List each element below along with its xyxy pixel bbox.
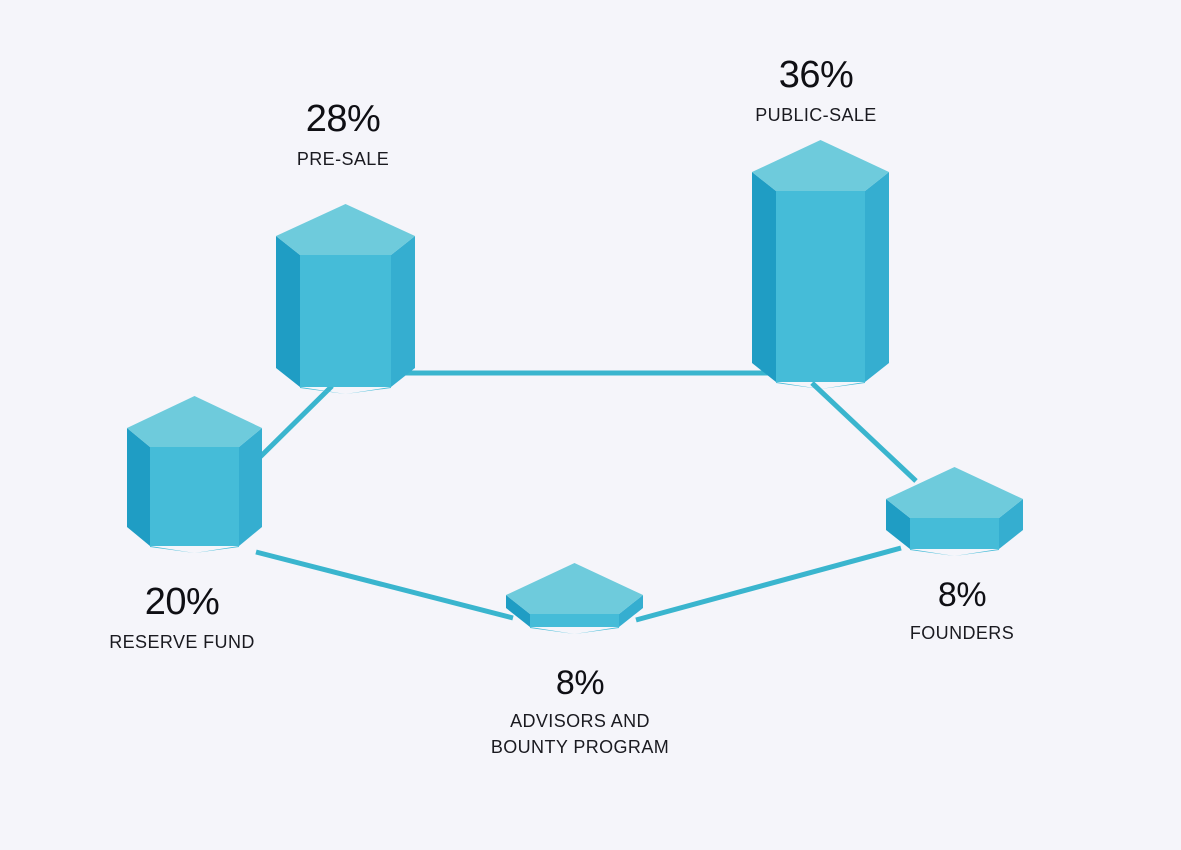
prism-public-sale-left-facet (752, 172, 776, 382)
prism-public-sale-front-facet (776, 191, 865, 382)
connector-reserve-to-presale (252, 386, 332, 465)
label-reserve-fund: 20% RESERVE FUND (82, 583, 282, 656)
category-advisors: ADVISORS AND BOUNTY PROGRAM (480, 709, 680, 760)
prism-pre-sale-left-facet (276, 236, 300, 387)
prism-founders[interactable] (886, 467, 1023, 556)
prism-founders-front-facet (910, 518, 999, 549)
category-reserve-fund: RESERVE FUND (82, 630, 282, 656)
prism-reserve-fund-bottom-edge (150, 546, 239, 553)
prism-advisors-bottom-edge (530, 627, 619, 634)
prism-reserve-fund-top-face (127, 396, 262, 447)
category-public-sale: PUBLIC-SALE (716, 103, 916, 129)
value-pre-sale: 28% (243, 100, 443, 138)
label-founders: 8% FOUNDERS (862, 578, 1062, 647)
prism-pre-sale-top-face (276, 204, 415, 255)
prism-advisors[interactable] (506, 563, 643, 634)
label-pre-sale: 28% PRE-SALE (243, 100, 443, 173)
prism-reserve-fund[interactable] (127, 396, 262, 553)
token-distribution-infographic: 28% PRE-SALE 36% PUBLIC-SALE 20% RESERVE… (0, 0, 1181, 850)
prism-pre-sale-bottom-edge (300, 387, 391, 394)
prism-public-sale-top-face (752, 140, 889, 191)
prism-public-sale-right-facet (865, 172, 889, 382)
prism-founders-bottom-edge (910, 549, 999, 556)
category-pre-sale: PRE-SALE (243, 147, 443, 173)
prism-pre-sale-front-facet (300, 255, 391, 387)
value-advisors: 8% (480, 666, 680, 700)
prism-reserve-fund-right-facet (239, 428, 262, 546)
label-public-sale: 36% PUBLIC-SALE (716, 56, 916, 129)
category-founders: FOUNDERS (862, 621, 1062, 647)
prism-advisors-front-facet (530, 614, 619, 627)
value-public-sale: 36% (716, 56, 916, 94)
value-founders: 8% (862, 578, 1062, 612)
connector-advisors-to-reserve (256, 552, 513, 618)
label-advisors: 8% ADVISORS AND BOUNTY PROGRAM (480, 666, 680, 760)
value-reserve-fund: 20% (82, 583, 282, 621)
connector-publicsale-to-founders (812, 383, 916, 481)
prism-advisors-top-face (506, 563, 643, 614)
prism-reserve-fund-left-facet (127, 428, 150, 546)
prism-pre-sale[interactable] (276, 204, 415, 394)
prism-pre-sale-right-facet (391, 236, 415, 387)
prism-reserve-fund-front-facet (150, 447, 239, 546)
prism-public-sale[interactable] (752, 140, 889, 389)
